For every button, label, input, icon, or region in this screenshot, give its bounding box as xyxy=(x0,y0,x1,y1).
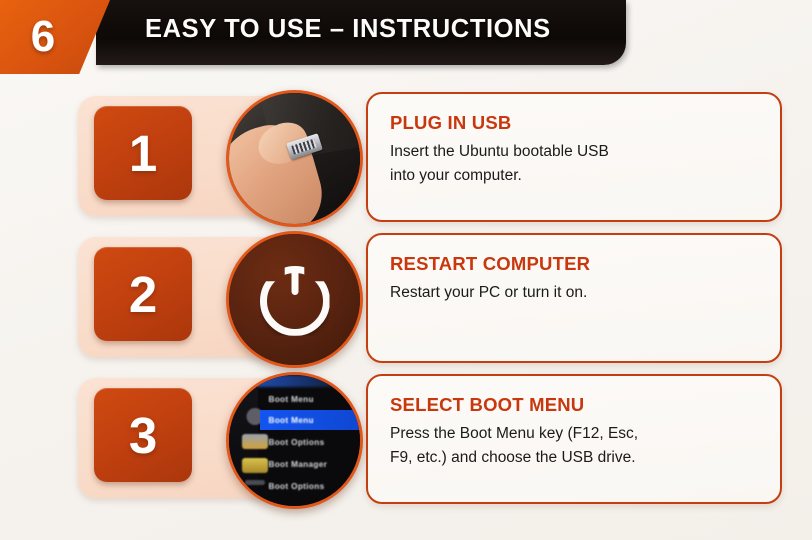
step-desc-line1: Insert the Ubuntu bootable USB xyxy=(390,143,609,160)
step-title-1: PLUG IN USB xyxy=(390,112,511,134)
step-desc-line1: Press the Boot Menu key (F12, Esc, xyxy=(390,425,638,442)
boot-menu-label: Boot Manager xyxy=(260,460,327,469)
step-image-boot-menu: Boot Menu Boot Menu Boot Options Boot Ma… xyxy=(226,372,363,509)
step-card-3: SELECT BOOT MENU Press the Boot Menu key… xyxy=(366,374,782,504)
step-number-box-2: 2 xyxy=(94,247,192,341)
step-row-2: 2 RESTART COMPUTER Restart your PC or tu… xyxy=(78,233,778,361)
step-image-power xyxy=(226,231,363,368)
step-title-3: SELECT BOOT MENU xyxy=(390,394,584,416)
boot-menu-row[interactable]: Boot Menu xyxy=(260,389,360,409)
boot-menu-label: Boot Menu xyxy=(260,416,313,425)
infographic-canvas: EASY TO USE – INSTRUCTIONS 6 1 P xyxy=(0,0,812,540)
step-description-3: Press the Boot Menu key (F12, Esc, F9, e… xyxy=(390,422,765,469)
step-number-3: 3 xyxy=(129,410,157,461)
boot-menu-label: Boot Options xyxy=(260,482,324,491)
step-card-2: RESTART COMPUTER Restart your PC or turn… xyxy=(366,233,782,363)
step-row-3: 3 Boot Menu Boot Menu xyxy=(78,374,778,502)
step-title-2: RESTART COMPUTER xyxy=(390,253,590,275)
step-number-2: 2 xyxy=(129,269,157,320)
step-description-2: Restart your PC or turn it on. xyxy=(390,281,765,305)
boot-menu-row[interactable]: Boot Options xyxy=(260,477,360,497)
usb-photo xyxy=(229,93,360,224)
bios-screenshot: Boot Menu Boot Menu Boot Options Boot Ma… xyxy=(229,375,360,506)
step-description-1: Insert the Ubuntu bootable USB into your… xyxy=(390,140,765,187)
power-bar-shape xyxy=(291,268,298,295)
bios-top-bar xyxy=(229,375,360,387)
step-desc-line2: into your computer. xyxy=(390,164,765,188)
power-icon xyxy=(229,234,360,365)
step-row-1: 1 PLUG IN USB Insert the Ubuntu bootable… xyxy=(78,92,778,220)
step-card-1: PLUG IN USB Insert the Ubuntu bootable U… xyxy=(366,92,782,222)
boot-menu-row[interactable]: Boot Manager xyxy=(260,455,360,475)
boot-menu-row[interactable]: Boot Options xyxy=(260,433,360,453)
boot-menu-row-selected[interactable]: Boot Menu xyxy=(260,410,360,430)
step-image-usb xyxy=(226,90,363,227)
boot-menu-label: Boot Menu xyxy=(260,395,313,404)
step-number-box-3: 3 xyxy=(94,388,192,482)
step-desc-line2: F9, etc.) and choose the USB drive. xyxy=(390,446,765,470)
step-number-box-1: 1 xyxy=(94,106,192,200)
steps-list: 1 PLUG IN USB Insert the Ubuntu bootable… xyxy=(0,0,812,540)
step-desc-line1: Restart your PC or turn it on. xyxy=(390,284,587,301)
boot-menu-label: Boot Options xyxy=(260,438,324,447)
step-number-1: 1 xyxy=(129,128,157,179)
